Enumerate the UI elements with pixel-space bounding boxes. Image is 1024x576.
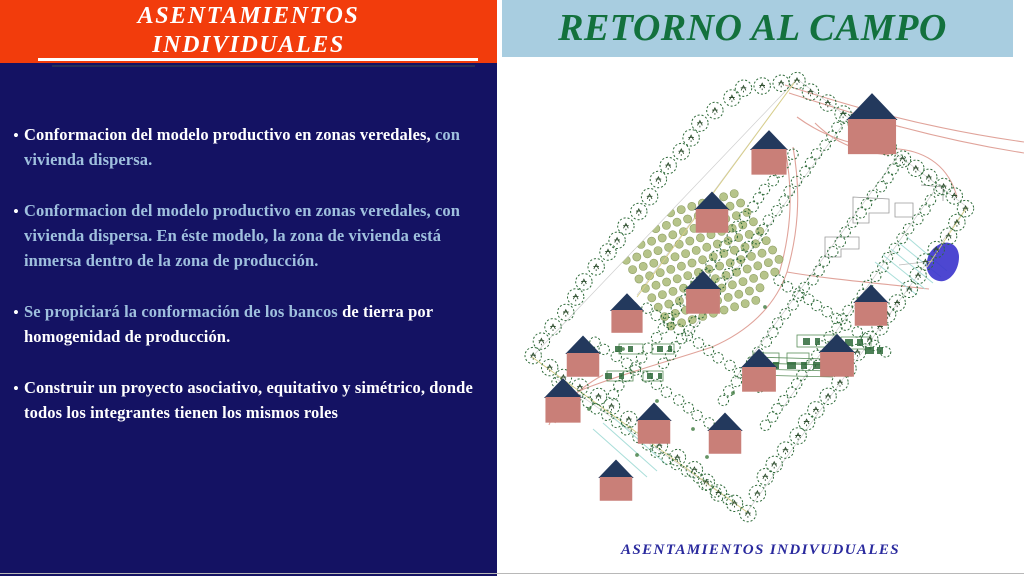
bullet-list: •Conformacion del modelo productivo en z…: [8, 122, 494, 451]
title-underline: [38, 58, 478, 61]
right-title: RETORNO AL CAMPO: [497, 3, 1008, 53]
house-icon: [544, 378, 582, 423]
house-icon: [610, 293, 644, 333]
house-icon: [846, 93, 897, 154]
slide-bottom-rule: [0, 573, 1024, 574]
tree-canopy-layer: [525, 72, 974, 521]
bullet-point-icon: •: [8, 376, 24, 401]
bullet-text-segment: Conformacion del modelo productivo en zo…: [24, 125, 435, 144]
bullet-point-icon: •: [8, 123, 24, 148]
site-plan-figure: [497, 57, 1024, 537]
site-plan-drawing: [497, 57, 1024, 537]
right-image-panel: RETORNO AL CAMPO: [497, 0, 1024, 576]
bullet-text: Construir un proyecto asociativo, equita…: [24, 375, 494, 425]
house-icon: [598, 460, 634, 501]
left-title-line1: ASENTAMIENTOS: [0, 2, 497, 31]
plan-caption: ASENTAMIENTOS INDIVUDUALES: [497, 542, 1024, 559]
slide-root: ASENTAMIENTOS INDIVIDUALES •Conformacion…: [0, 0, 1024, 576]
bullet-point-icon: •: [8, 199, 24, 224]
title-underline-secondary: [52, 65, 475, 67]
left-content-panel: ASENTAMIENTOS INDIVIDUALES •Conformacion…: [0, 0, 497, 576]
house-icon: [750, 130, 788, 175]
bullet-text-segment: Construir un proyecto asociativo, equita…: [24, 378, 473, 422]
house-icon: [707, 413, 743, 454]
left-title-line2: INDIVIDUALES: [0, 31, 497, 60]
left-title-banner: ASENTAMIENTOS INDIVIDUALES: [0, 0, 497, 63]
bullet-point-icon: •: [8, 300, 24, 325]
house-layer: [544, 93, 898, 501]
bullet-item: •Construir un proyecto asociativo, equit…: [8, 375, 494, 425]
bullet-item: •Se propiciará la conformación de los ba…: [8, 299, 494, 349]
bullet-item: •Conformacion del modelo productivo en z…: [8, 122, 494, 172]
left-title: ASENTAMIENTOS INDIVIDUALES: [0, 2, 497, 60]
house-icon: [853, 285, 889, 326]
house-icon: [565, 336, 601, 377]
bullet-text: Se propiciará la conformación de los ban…: [24, 299, 494, 349]
pond-icon: [927, 243, 960, 282]
bullet-text-segment: Conformacion del modelo productivo en zo…: [24, 201, 460, 270]
bullet-text-segment: Se propiciará la conformación de los ban…: [24, 302, 342, 321]
bullet-item: •Conformacion del modelo productivo en z…: [8, 198, 494, 273]
bullet-text: Conformacion del modelo productivo en zo…: [24, 122, 494, 172]
bullet-text: Conformacion del modelo productivo en zo…: [24, 198, 494, 273]
house-icon: [636, 403, 672, 444]
house-icon: [741, 349, 778, 392]
